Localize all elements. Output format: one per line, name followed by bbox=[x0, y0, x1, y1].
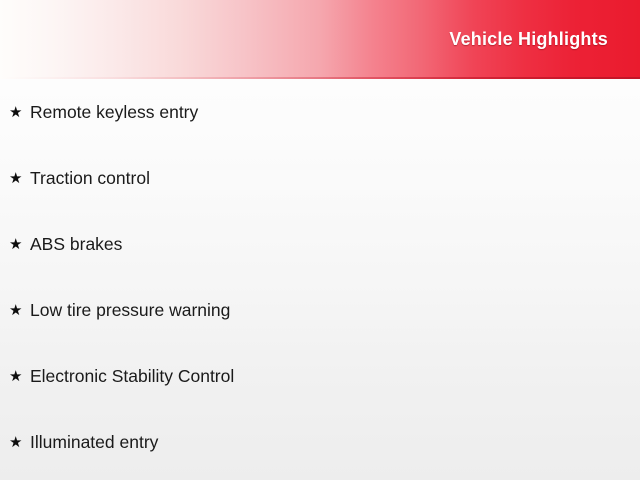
list-item-label: Illuminated entry bbox=[30, 432, 158, 453]
vehicle-highlights-slide: Vehicle Highlights ★ Remote keyless entr… bbox=[0, 0, 640, 480]
list-item: ★ Remote keyless entry bbox=[0, 79, 640, 145]
list-item-label: Traction control bbox=[30, 168, 150, 189]
star-bullet-icon: ★ bbox=[9, 303, 30, 318]
list-item: ★ ABS brakes bbox=[0, 211, 640, 277]
list-item: ★ Electronic Stability Control bbox=[0, 343, 640, 409]
list-item: ★ Traction control bbox=[0, 145, 640, 211]
vehicle-highlights-list: ★ Remote keyless entry ★ Traction contro… bbox=[0, 79, 640, 475]
star-bullet-icon: ★ bbox=[9, 105, 30, 120]
header-banner: Vehicle Highlights bbox=[0, 0, 640, 79]
star-bullet-icon: ★ bbox=[9, 237, 30, 252]
list-item-label: Remote keyless entry bbox=[30, 102, 198, 123]
list-item-label: Electronic Stability Control bbox=[30, 366, 234, 387]
list-item-label: Low tire pressure warning bbox=[30, 300, 230, 321]
star-bullet-icon: ★ bbox=[9, 369, 30, 384]
star-bullet-icon: ★ bbox=[9, 435, 30, 450]
star-bullet-icon: ★ bbox=[9, 171, 30, 186]
list-item: ★ Low tire pressure warning bbox=[0, 277, 640, 343]
page-title: Vehicle Highlights bbox=[449, 29, 608, 50]
list-item: ★ Illuminated entry bbox=[0, 409, 640, 475]
list-item-label: ABS brakes bbox=[30, 234, 122, 255]
